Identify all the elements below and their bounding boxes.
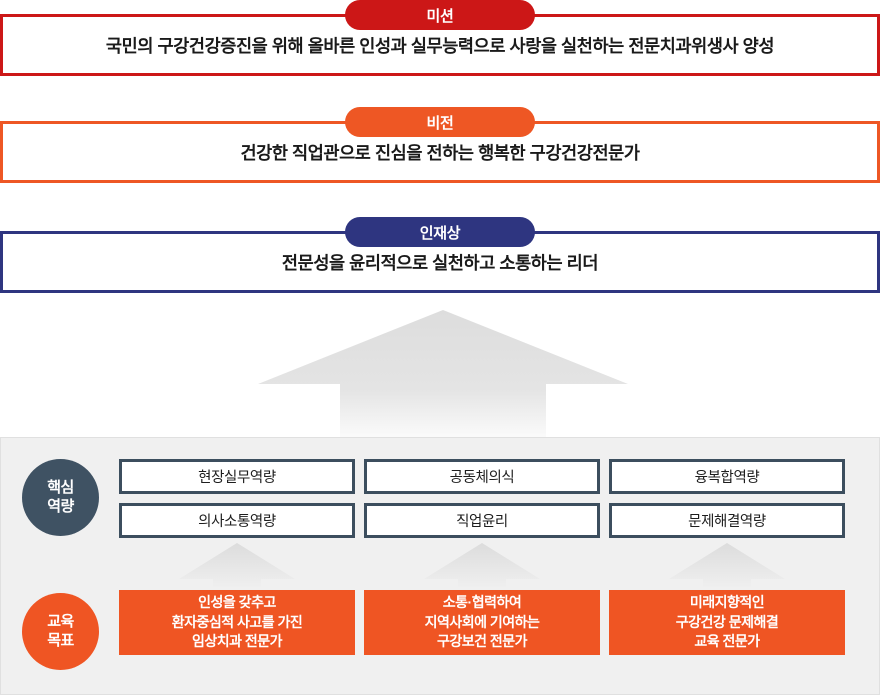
diagram-root: 국민의 구강건강증진을 위해 올바른 인성과 실무능력으로 사랑을 실천하는 전… [0, 0, 880, 695]
goal-circle-line1: 교육 [47, 613, 74, 631]
talent-text: 전문성을 윤리적으로 실천하고 소통하는 리더 [282, 250, 598, 275]
vision-banner: 건강한 직업관으로 진심을 전하는 행복한 구강건강전문가 비전 [0, 107, 880, 199]
goal-line: 인성을 갖추고 [198, 593, 276, 613]
vision-badge: 비전 [345, 107, 535, 137]
competency-box: 직업윤리 [364, 503, 600, 538]
up-arrow-icon [179, 543, 295, 587]
up-arrow-icon [424, 543, 540, 587]
competency-goal-panel: 핵심 역량 교육 목표 현장실무역량 의사소통역량 인성을 갖추고 환자중심적 … [0, 437, 880, 695]
competency-box: 의사소통역량 [119, 503, 355, 538]
goal-line: 구강건강 문제해결 [676, 613, 778, 633]
mission-badge: 미션 [345, 0, 535, 30]
large-up-arrow-icon [258, 310, 628, 438]
education-goal-circle: 교육 목표 [22, 593, 99, 670]
goal-line: 소통·협력하여 [443, 593, 521, 613]
goal-line: 구강보건 전문가 [437, 632, 527, 652]
up-arrow-icon [669, 543, 785, 587]
goal-line: 임상치과 전문가 [192, 632, 282, 652]
competency-box: 현장실무역량 [119, 459, 355, 494]
mission-text: 국민의 구강건강증진을 위해 올바른 인성과 실무능력으로 사랑을 실천하는 전… [106, 33, 774, 58]
competency-box: 문제해결역량 [609, 503, 845, 538]
vision-text: 건강한 직업관으로 진심을 전하는 행복한 구강건강전문가 [240, 140, 639, 165]
goal-box: 미래지향적인 구강건강 문제해결 교육 전문가 [609, 590, 845, 655]
goal-line: 환자중심적 사고를 가진 [172, 613, 303, 633]
goal-circle-line2: 목표 [47, 632, 74, 650]
goal-line: 미래지향적인 [690, 593, 764, 613]
core-circle-line1: 핵심 [47, 479, 74, 497]
core-circle-line2: 역량 [47, 498, 74, 516]
mission-banner: 국민의 구강건강증진을 위해 올바른 인성과 실무능력으로 사랑을 실천하는 전… [0, 0, 880, 92]
talent-banner: 전문성을 윤리적으로 실천하고 소통하는 리더 인재상 [0, 217, 880, 309]
goal-box: 소통·협력하여 지역사회에 기여하는 구강보건 전문가 [364, 590, 600, 655]
goal-box: 인성을 갖추고 환자중심적 사고를 가진 임상치과 전문가 [119, 590, 355, 655]
talent-badge: 인재상 [345, 217, 535, 247]
core-competency-circle: 핵심 역량 [22, 459, 99, 536]
competency-box: 융복합역량 [609, 459, 845, 494]
goal-line: 지역사회에 기여하는 [425, 613, 540, 633]
goal-line: 교육 전문가 [694, 632, 759, 652]
competency-box: 공동체의식 [364, 459, 600, 494]
